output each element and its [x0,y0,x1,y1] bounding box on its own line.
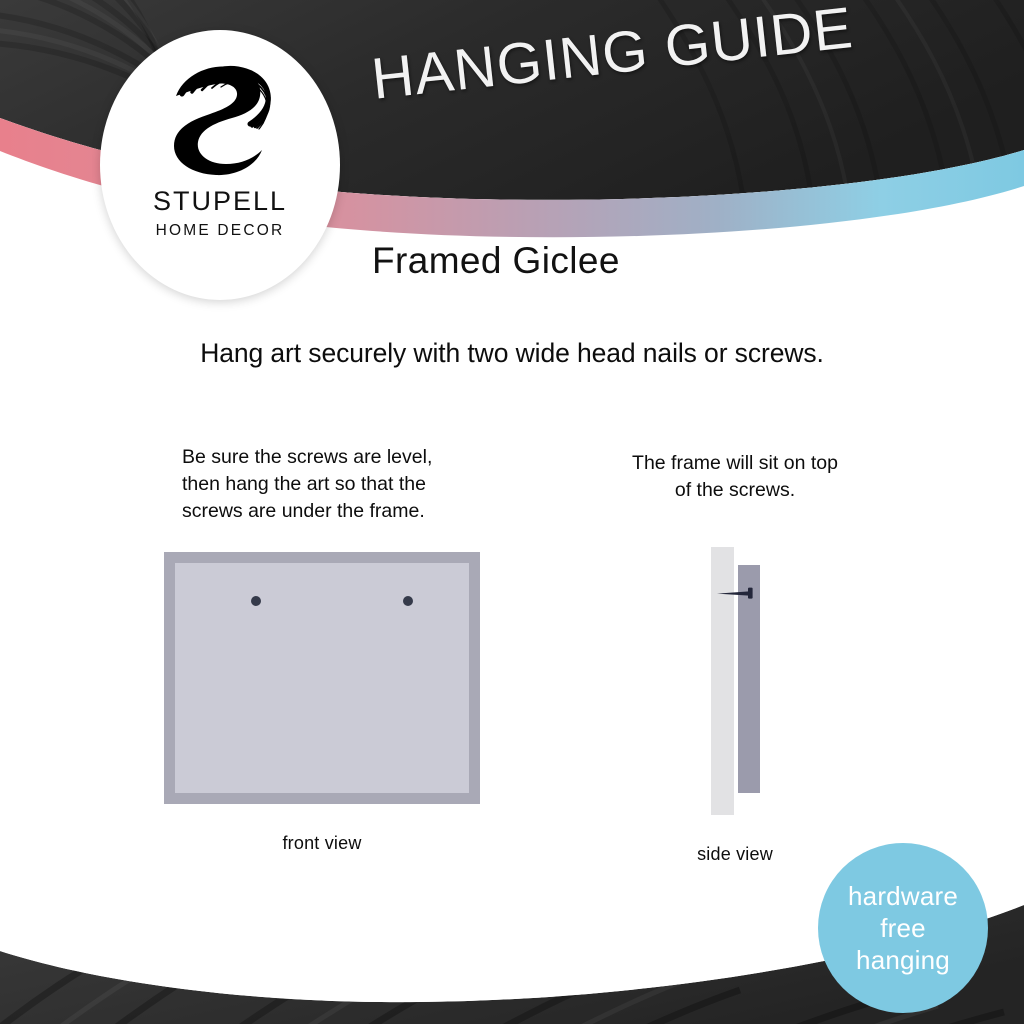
lead-instruction-text: Hang art securely with two wide head nai… [0,338,1024,369]
nail-side-icon [716,586,756,600]
badge-line-3: hanging [856,944,950,976]
brand-tagline: HOME DECOR [156,223,285,239]
brand-logo-badge: STUPELL HOME DECOR [100,30,340,300]
front-view-frame-interior [175,563,469,793]
brand-name: STUPELL [153,188,287,215]
front-caption-line-3: screws are under the frame. [182,498,510,525]
hanging-guide-page: STUPELL HOME DECOR HANGING GUIDE Framed … [0,0,1024,1024]
side-view-caption-block: The frame will sit on top of the screws. [590,450,880,504]
stupell-swoosh-logo-icon [158,54,282,182]
front-caption-line-2: then hang the art so that the [182,471,510,498]
badge-line-1: hardware [848,880,958,912]
screw-dot-left-icon [251,596,261,606]
front-view-frame-diagram [164,552,480,804]
front-view-caption: Be sure the screws are level, then hang … [140,444,510,525]
front-caption-line-1: Be sure the screws are level, [182,444,510,471]
side-view-caption: The frame will sit on top of the screws. [590,450,880,504]
screw-dot-right-icon [403,596,413,606]
side-caption-line-1: The frame will sit on top [590,450,880,477]
badge-line-2: free [880,912,926,944]
front-view-label: front view [164,833,480,854]
front-view-caption-block: Be sure the screws are level, then hang … [140,444,510,525]
product-type-heading: Framed Giclee [372,240,620,282]
hardware-free-hanging-badge: hardware free hanging [818,843,988,1013]
side-caption-line-2: of the screws. [590,477,880,504]
page-title: HANGING GUIDE [368,0,856,113]
side-view-label: side view [640,844,830,865]
